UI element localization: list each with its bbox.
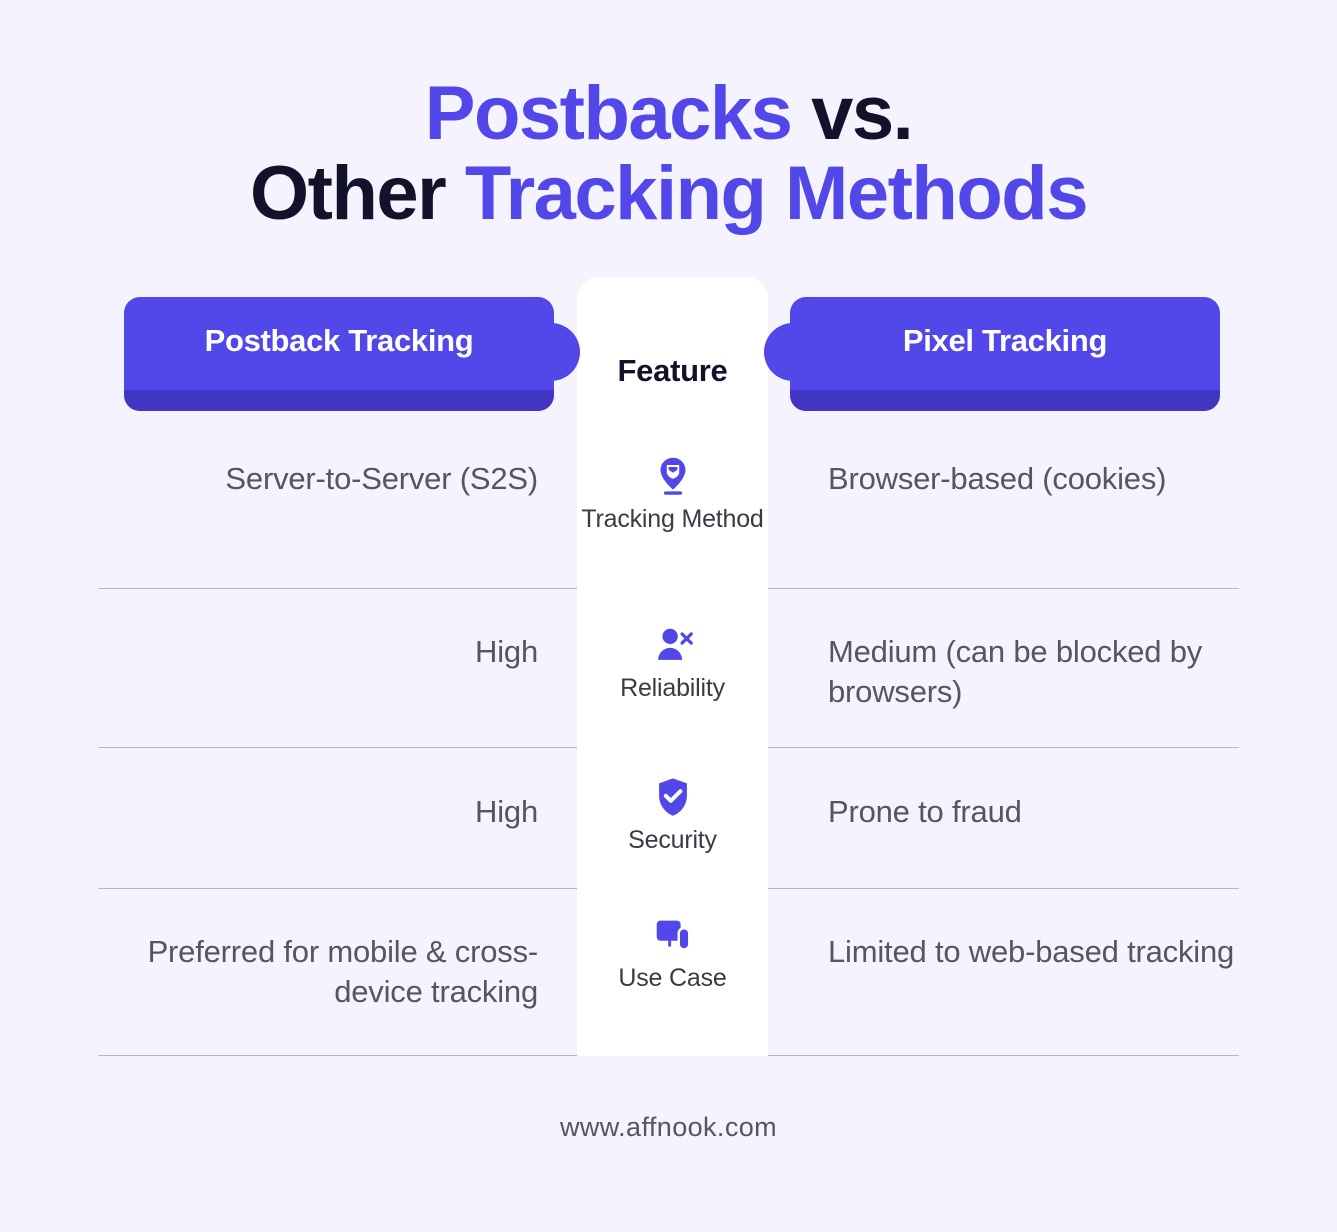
row-1-feature: Tracking Method xyxy=(577,453,768,535)
page-title: Postbacks vs. Other Tracking Methods xyxy=(0,74,1337,234)
row-2-feature: Reliability xyxy=(577,622,768,704)
column-header-pixel-tracking: Pixel Tracking xyxy=(790,297,1220,411)
row-divider xyxy=(768,888,1239,889)
title-plain-vs: vs. xyxy=(791,71,912,156)
row-2-left-value: High xyxy=(98,632,538,672)
title-accent-postbacks: Postbacks xyxy=(425,71,792,156)
row-divider xyxy=(98,747,577,748)
row-3-feature: Security xyxy=(577,774,768,856)
row-divider xyxy=(98,888,577,889)
devices-icon xyxy=(650,912,696,958)
column-header-left-label: Postback Tracking xyxy=(124,323,554,359)
row-divider xyxy=(768,747,1239,748)
row-1-left-value: Server-to-Server (S2S) xyxy=(98,459,538,499)
row-1-feature-label: Tracking Method xyxy=(577,505,768,535)
row-3-feature-label: Security xyxy=(577,826,768,856)
comparison-table: Postback Tracking Pixel Tracking Feature… xyxy=(0,277,1337,1067)
title-accent-tracking-methods: Tracking Methods xyxy=(465,151,1087,236)
row-4-feature: Use Case xyxy=(577,912,768,994)
row-divider xyxy=(768,1055,1239,1056)
row-2-right-value: Medium (can be blocked by browsers) xyxy=(828,632,1248,711)
row-2-feature-label: Reliability xyxy=(577,674,768,704)
footer-url: www.affnook.com xyxy=(0,1112,1337,1143)
location-pin-icon xyxy=(650,453,696,499)
row-1-right-value: Browser-based (cookies) xyxy=(828,459,1248,499)
title-line-2: Other Tracking Methods xyxy=(0,154,1337,234)
row-divider xyxy=(98,1055,577,1056)
column-header-right-label: Pixel Tracking xyxy=(790,323,1220,359)
title-plain-other: Other xyxy=(250,151,465,236)
column-header-postback-tracking: Postback Tracking xyxy=(124,297,554,411)
column-header-feature: Feature xyxy=(577,353,768,389)
row-4-feature-label: Use Case xyxy=(577,964,768,994)
row-4-left-value: Preferred for mobile & cross-device trac… xyxy=(98,932,538,1011)
row-3-left-value: High xyxy=(98,792,538,832)
row-divider xyxy=(98,588,577,589)
shield-check-icon xyxy=(650,774,696,820)
row-divider xyxy=(768,588,1239,589)
row-4-right-value: Limited to web-based tracking xyxy=(828,932,1248,972)
title-line-1: Postbacks vs. xyxy=(0,74,1337,154)
row-3-right-value: Prone to fraud xyxy=(828,792,1248,832)
user-blocked-icon xyxy=(650,622,696,668)
